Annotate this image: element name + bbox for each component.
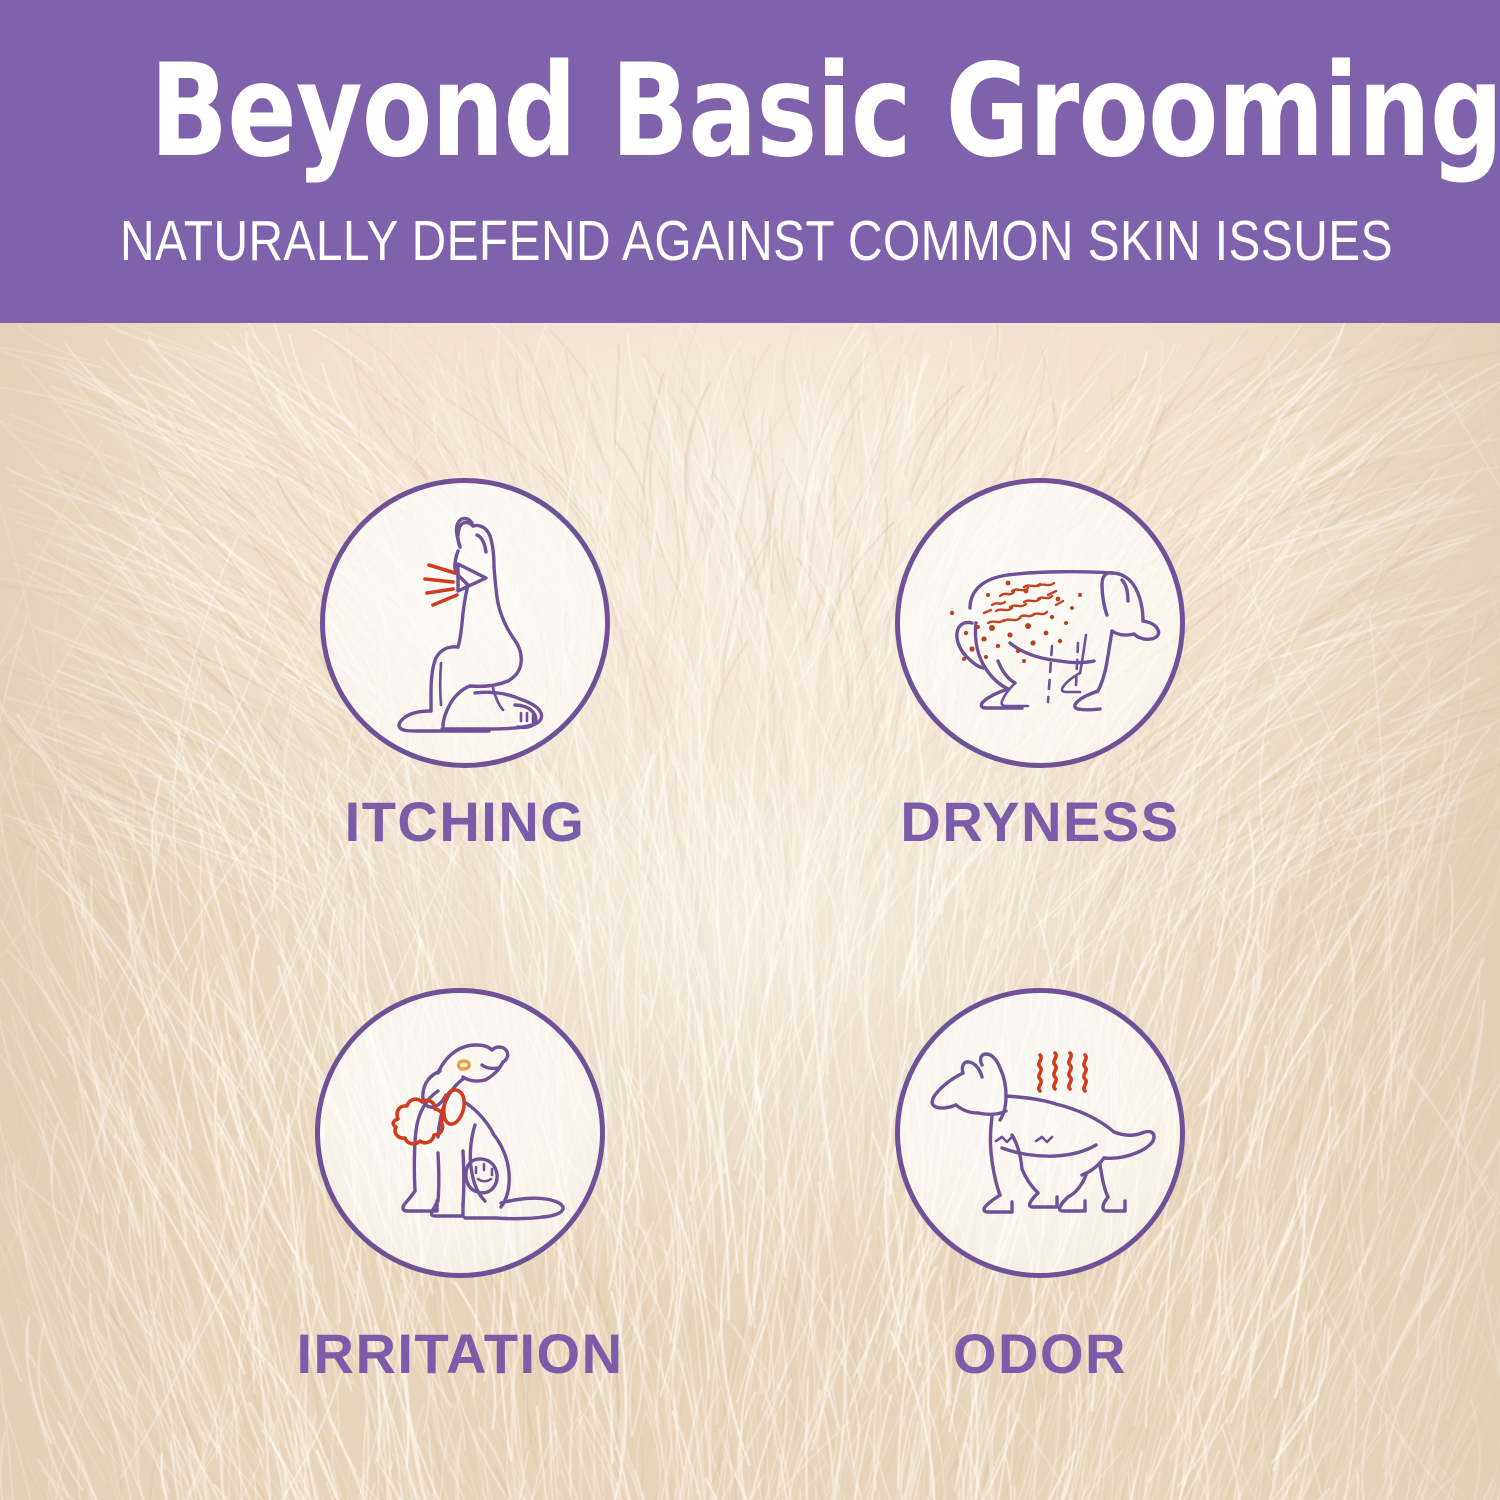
icon-circle-irritation (315, 988, 605, 1278)
issue-label-odor: ODOR (810, 1326, 1270, 1382)
issue-label-irritation: IRRITATION (230, 1326, 690, 1382)
dog-irritated-patches-icon (320, 993, 605, 1278)
issue-card-irritation: IRRITATION (230, 988, 690, 1382)
issue-card-odor: ODOR (810, 988, 1270, 1382)
infographic-page: Beyond Basic Grooming NATURALLY DEFEND A… (0, 0, 1500, 1500)
icon-circle-wrapper (895, 988, 1185, 1278)
dog-flaky-skin-icon (900, 483, 1185, 768)
icon-circle-itching (320, 478, 610, 768)
dog-scratching-icon (325, 483, 610, 768)
issue-label-itching: ITCHING (235, 794, 695, 850)
header-banner: Beyond Basic Grooming NATURALLY DEFEND A… (0, 0, 1500, 323)
icon-circle-wrapper (315, 988, 605, 1278)
issue-label-dryness: DRYNESS (810, 794, 1270, 850)
dog-odor-icon (900, 993, 1185, 1278)
issue-card-itching: ITCHING (235, 478, 695, 850)
issue-card-dryness: DRYNESS (810, 478, 1270, 850)
page-title: Beyond Basic Grooming (150, 48, 1350, 176)
icon-circle-dryness (895, 478, 1185, 768)
icon-circle-wrapper (320, 478, 610, 768)
icon-circle-odor (895, 988, 1185, 1278)
page-subtitle: NATURALLY DEFEND AGAINST COMMON SKIN ISS… (120, 208, 1380, 274)
icon-circle-wrapper (895, 478, 1185, 768)
skin-issues-grid: ITCHING (0, 323, 1500, 1500)
